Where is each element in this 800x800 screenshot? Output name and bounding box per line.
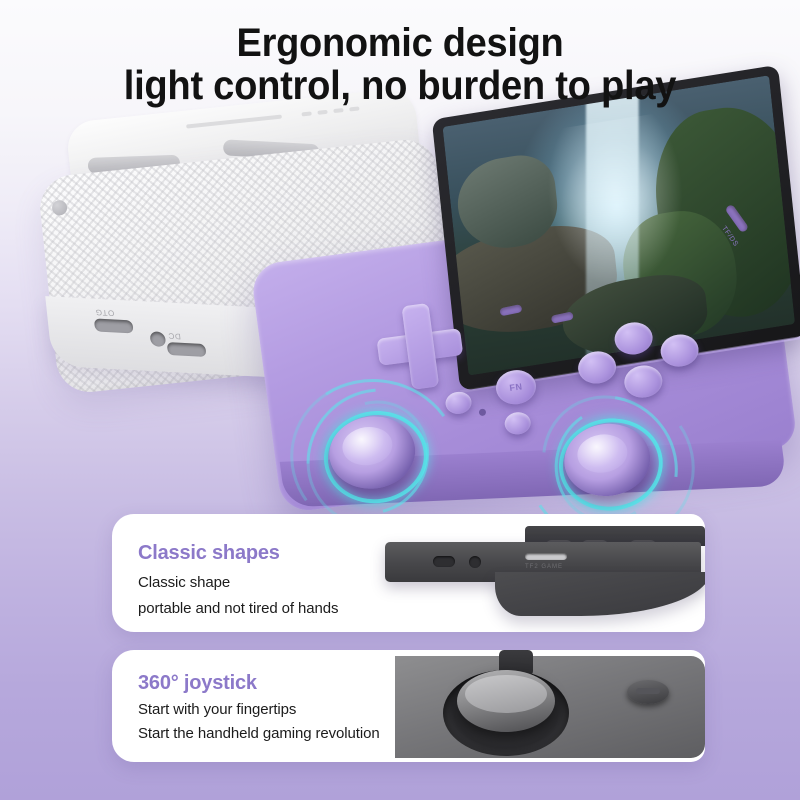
usb-port bbox=[433, 556, 455, 567]
headphone-jack bbox=[469, 556, 481, 568]
joystick-text: 360° joystick Start with your fingertips… bbox=[138, 672, 380, 745]
card-slot bbox=[525, 553, 567, 560]
otg-port-label: OTG bbox=[95, 308, 115, 318]
classic-shapes-text: Classic shapes Classic shape portable an… bbox=[138, 542, 338, 617]
analog-joystick[interactable] bbox=[457, 670, 555, 732]
card-line: Start the handheld gaming revolution bbox=[138, 723, 380, 745]
product-marketing-image: Ergonomic design light control, no burde… bbox=[0, 0, 800, 800]
vent-slot bbox=[301, 111, 311, 116]
screw-dot bbox=[51, 200, 67, 216]
card-line: Start with your fingertips bbox=[138, 699, 380, 721]
card-line: Classic shape bbox=[138, 574, 338, 591]
otg-port bbox=[94, 318, 134, 333]
dc-port-label: DC bbox=[168, 331, 182, 341]
vent-slot bbox=[186, 115, 282, 129]
console-face-plate bbox=[395, 656, 705, 758]
device-model-label: TF2 GAME bbox=[525, 564, 563, 570]
device-grip-curve bbox=[495, 572, 705, 616]
vent-slot bbox=[333, 108, 343, 113]
card-title: Classic shapes bbox=[138, 542, 338, 565]
headline-line-1: Ergonomic design bbox=[20, 22, 780, 64]
headline-line-2: light control, no burden to play bbox=[28, 64, 772, 107]
feature-card-360-joystick: 360° joystick Start with your fingertips… bbox=[112, 650, 705, 762]
joystick-macro-photo bbox=[395, 650, 705, 762]
purple-console: TF/DS bbox=[234, 76, 800, 543]
hero-product-photo: OTG DC bbox=[0, 96, 800, 526]
feature-card-classic-shapes: TF2 GAME Classic shapes Classic shape po… bbox=[112, 514, 705, 632]
headphone-jack bbox=[149, 331, 166, 347]
card-line: portable and not tired of hands bbox=[138, 600, 338, 617]
dc-port bbox=[167, 342, 207, 357]
function-button[interactable] bbox=[627, 680, 669, 704]
vent-slot bbox=[317, 110, 327, 115]
classic-shapes-photo: TF2 GAME bbox=[375, 514, 705, 632]
page-title: Ergonomic design light control, no burde… bbox=[0, 22, 800, 108]
card-title: 360° joystick bbox=[138, 672, 380, 695]
